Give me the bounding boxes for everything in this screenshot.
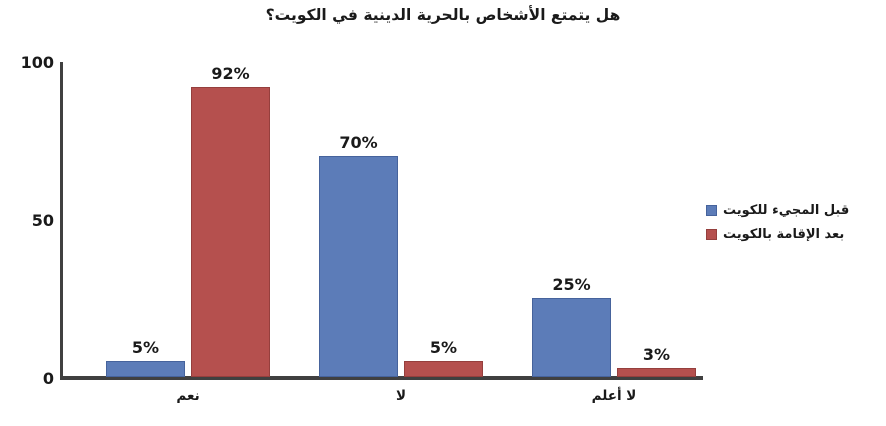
x-axis-category-label-2: لا أعلم: [519, 388, 709, 404]
bar-series-0-category-0[interactable]: 5%: [106, 361, 185, 377]
bar-series-0-category-2[interactable]: 25%: [532, 298, 611, 377]
bar-value-label: 5%: [132, 338, 159, 357]
y-axis-tick-0: 0: [8, 369, 54, 388]
bar-value-label: 5%: [430, 338, 457, 357]
legend-item-after[interactable]: بعد الإقامة بالكويت: [706, 222, 884, 246]
plot-area: 5% 92% 70% 5% 25% 3%: [60, 62, 700, 377]
legend-item-before[interactable]: قبل المجيء للكويت: [706, 198, 884, 222]
y-axis-tick-100: 100: [8, 53, 54, 72]
chart-legend: قبل المجيء للكويت بعد الإقامة بالكويت: [706, 198, 884, 246]
bar-value-label: 25%: [552, 275, 590, 294]
bar-value-label: 92%: [211, 64, 249, 83]
bar-group: 70% 5%: [306, 62, 496, 377]
x-axis-category-label-0: نعم: [93, 388, 283, 404]
legend-label-after: بعد الإقامة بالكويت: [723, 227, 844, 242]
bar-value-label: 70%: [339, 133, 377, 152]
bar-group: 25% 3%: [519, 62, 709, 377]
x-axis-category-label-1: لا: [306, 388, 496, 404]
legend-swatch-blue-icon: [706, 205, 717, 216]
bar-series-1-category-1[interactable]: 5%: [404, 361, 483, 377]
bar-series-0-category-1[interactable]: 70%: [319, 156, 398, 377]
bar-series-1-category-2[interactable]: 3%: [617, 368, 696, 377]
legend-label-before: قبل المجيء للكويت: [723, 203, 849, 218]
legend-swatch-red-icon: [706, 229, 717, 240]
bar-value-label: 3%: [643, 345, 670, 364]
bar-group: 5% 92%: [93, 62, 283, 377]
chart-title: هل يتمتع الأشخاص بالحرية الدينية في الكو…: [0, 6, 886, 24]
bar-chart: هل يتمتع الأشخاص بالحرية الدينية في الكو…: [0, 0, 886, 426]
bar-series-1-category-0[interactable]: 92%: [191, 87, 270, 377]
y-axis-tick-50: 50: [8, 211, 54, 230]
